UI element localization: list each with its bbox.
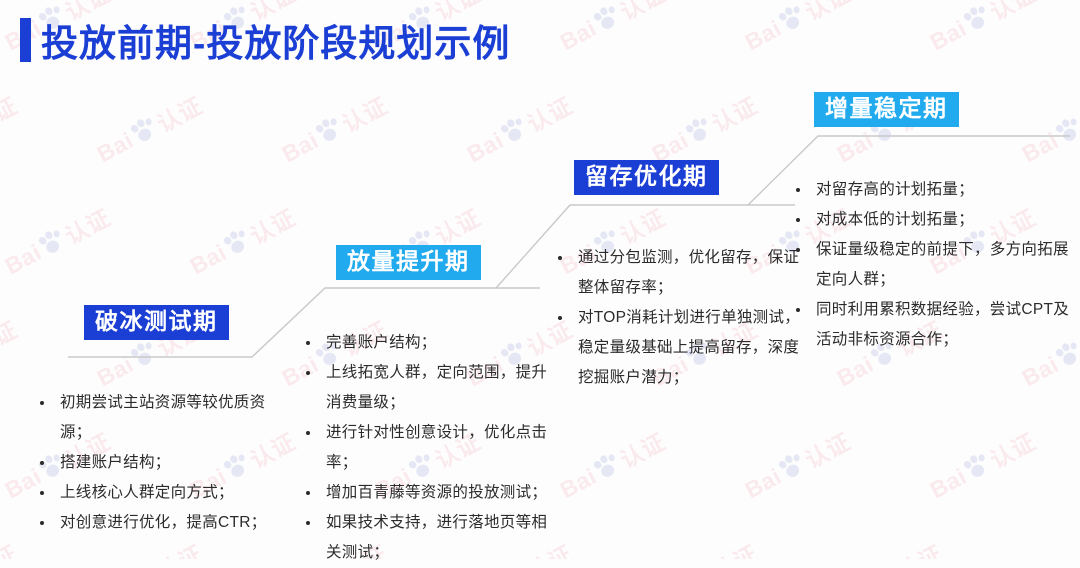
- watermark-text-right: 认证: [613, 0, 670, 27]
- list-item: 通过分包监测，优化留存，保证整体留存率；: [552, 243, 802, 303]
- watermark-logo: Bai认证: [461, 87, 578, 171]
- watermark-logo: Bai认证: [646, 87, 763, 171]
- watermark-text-right: 认证: [705, 87, 762, 139]
- watermark-logo: Bai认证: [739, 0, 856, 59]
- paw-print-icon: [221, 227, 255, 260]
- stage-label-2: 放量提升期: [336, 245, 481, 280]
- watermark-logo: Bai认证: [276, 87, 393, 171]
- watermark-text-left: Bai: [185, 238, 231, 279]
- stage-bullets-1: 初期尝试主站资源等较优质资源； 搭建账户结构； 上线核心人群定向方式； 对创意进…: [34, 388, 278, 538]
- watermark-text-right: 认证: [0, 535, 23, 559]
- paw-print-icon: [498, 115, 532, 148]
- watermark-logo: Bai认证: [91, 535, 208, 559]
- watermark-text-left: Bai: [925, 462, 971, 503]
- stage-card-4: 增量稳定期 对留存高的计划拓量； 对成本低的计划拓量； 保证量级稳定的前提下，多…: [800, 92, 1070, 355]
- watermark-text-left: Bai: [555, 14, 601, 55]
- watermark-text-right: 认证: [798, 423, 855, 475]
- watermark-text-left: Bai: [1017, 350, 1063, 391]
- stage-label-3: 留存优化期: [574, 160, 719, 195]
- paw-print-icon: [961, 451, 995, 484]
- list-item: 同时利用累积数据经验，尝试CPT及活动非标资源合作；: [790, 295, 1070, 355]
- watermark-text-right: 认证: [798, 0, 855, 27]
- stage-label-4: 增量稳定期: [814, 92, 959, 127]
- stage-card-2: 放量提升期 完善账户结构； 上线拓宽人群，定向范围，提升消费量级； 进行针对性创…: [288, 245, 556, 568]
- watermark-logo: Bai认证: [1016, 535, 1080, 559]
- watermark-text-left: Bai: [277, 126, 323, 167]
- watermark-logo: Bai认证: [0, 87, 23, 171]
- watermark-text-right: 认证: [243, 199, 300, 251]
- list-item: 初期尝试主站资源等较优质资源；: [34, 388, 278, 448]
- stage-bullets-3: 通过分包监测，优化留存，保证整体留存率； 对TOP消耗计划进行单独测试，稳定量级…: [552, 243, 802, 393]
- watermark-text-right: 认证: [0, 87, 23, 139]
- list-item: 对留存高的计划拓量；: [790, 175, 1070, 205]
- watermark-text-right: 认证: [150, 535, 207, 559]
- watermark-text-right: 认证: [983, 0, 1040, 27]
- watermark-text-right: 认证: [890, 535, 947, 559]
- watermark-text-right: 认证: [613, 423, 670, 475]
- page-title: 投放前期-投放阶段规划示例: [41, 13, 510, 67]
- watermark-logo: Bai认证: [924, 423, 1041, 507]
- watermark-logo: Bai认证: [554, 0, 671, 59]
- watermark-text-left: Bai: [925, 14, 971, 55]
- paw-print-icon: [683, 115, 717, 148]
- watermark-text-left: Bai: [555, 462, 601, 503]
- stage-label-1: 破冰测试期: [84, 305, 229, 340]
- watermark-text-right: 认证: [335, 87, 392, 139]
- watermark-text-right: 认证: [520, 87, 577, 139]
- watermark-logo: Bai认证: [91, 87, 208, 171]
- watermark-text-right: 认证: [983, 423, 1040, 475]
- watermark-text-left: Bai: [462, 126, 508, 167]
- watermark-text-right: 认证: [428, 199, 485, 251]
- watermark-text-right: 认证: [1075, 87, 1080, 139]
- watermark-text-left: Bai: [0, 238, 46, 279]
- list-item: 保证量级稳定的前提下，多方向拓展定向人群；: [790, 235, 1070, 295]
- watermark-logo: Bai认证: [831, 535, 948, 559]
- watermark-logo: Bai认证: [0, 199, 116, 283]
- paw-print-icon: [313, 115, 347, 148]
- paw-print-icon: [128, 115, 162, 148]
- watermark-logo: Bai认证: [554, 423, 671, 507]
- watermark-text-right: 认证: [58, 199, 115, 251]
- list-item: 上线拓宽人群，定向范围，提升消费量级；: [300, 358, 556, 418]
- watermark-logo: Bai认证: [184, 199, 301, 283]
- watermark-text-left: Bai: [740, 14, 786, 55]
- list-item: 增加百青藤等资源的投放测试；: [300, 478, 556, 508]
- list-item: 完善账户结构；: [300, 328, 556, 358]
- watermark-text-right: 认证: [705, 535, 762, 559]
- paw-print-icon: [776, 3, 810, 36]
- title-accent-bar: [20, 18, 31, 62]
- watermark-logo: Bai认证: [646, 535, 763, 559]
- stage-card-1: 破冰测试期 初期尝试主站资源等较优质资源； 搭建账户结构； 上线核心人群定向方式…: [20, 305, 278, 538]
- watermark-logo: Bai认证: [0, 535, 23, 559]
- list-item: 对成本低的计划拓量；: [790, 205, 1070, 235]
- watermark-logo: Bai认证: [924, 0, 1041, 59]
- paw-print-icon: [591, 451, 625, 484]
- list-item: 上线核心人群定向方式；: [34, 478, 278, 508]
- watermark-text-right: 认证: [150, 87, 207, 139]
- watermark-text-right: 认证: [1075, 311, 1080, 363]
- stage-card-3: 留存优化期 通过分包监测，优化留存，保证整体留存率； 对TOP消耗计划进行单独测…: [552, 160, 802, 393]
- paw-print-icon: [961, 3, 995, 36]
- paw-print-icon: [776, 451, 810, 484]
- watermark-text-left: Bai: [92, 126, 138, 167]
- watermark-text-left: Bai: [832, 350, 878, 391]
- watermark-text-left: Bai: [740, 462, 786, 503]
- list-item: 对创意进行优化，提高CTR；: [34, 508, 278, 538]
- paw-print-icon: [36, 227, 70, 260]
- watermark-logo: Bai认证: [739, 423, 856, 507]
- list-item: 搭建账户结构；: [34, 448, 278, 478]
- stage-bullets-4: 对留存高的计划拓量； 对成本低的计划拓量； 保证量级稳定的前提下，多方向拓展定向…: [790, 175, 1070, 355]
- watermark-text-right: 认证: [1075, 535, 1080, 559]
- paw-print-icon: [591, 3, 625, 36]
- stage-bullets-2: 完善账户结构； 上线拓宽人群，定向范围，提升消费量级； 进行针对性创意设计，优化…: [300, 328, 556, 568]
- list-item: 对TOP消耗计划进行单独测试，稳定量级基础上提高留存，深度挖掘账户潜力；: [552, 303, 802, 393]
- list-item: 进行针对性创意设计，优化点击率；: [300, 418, 556, 478]
